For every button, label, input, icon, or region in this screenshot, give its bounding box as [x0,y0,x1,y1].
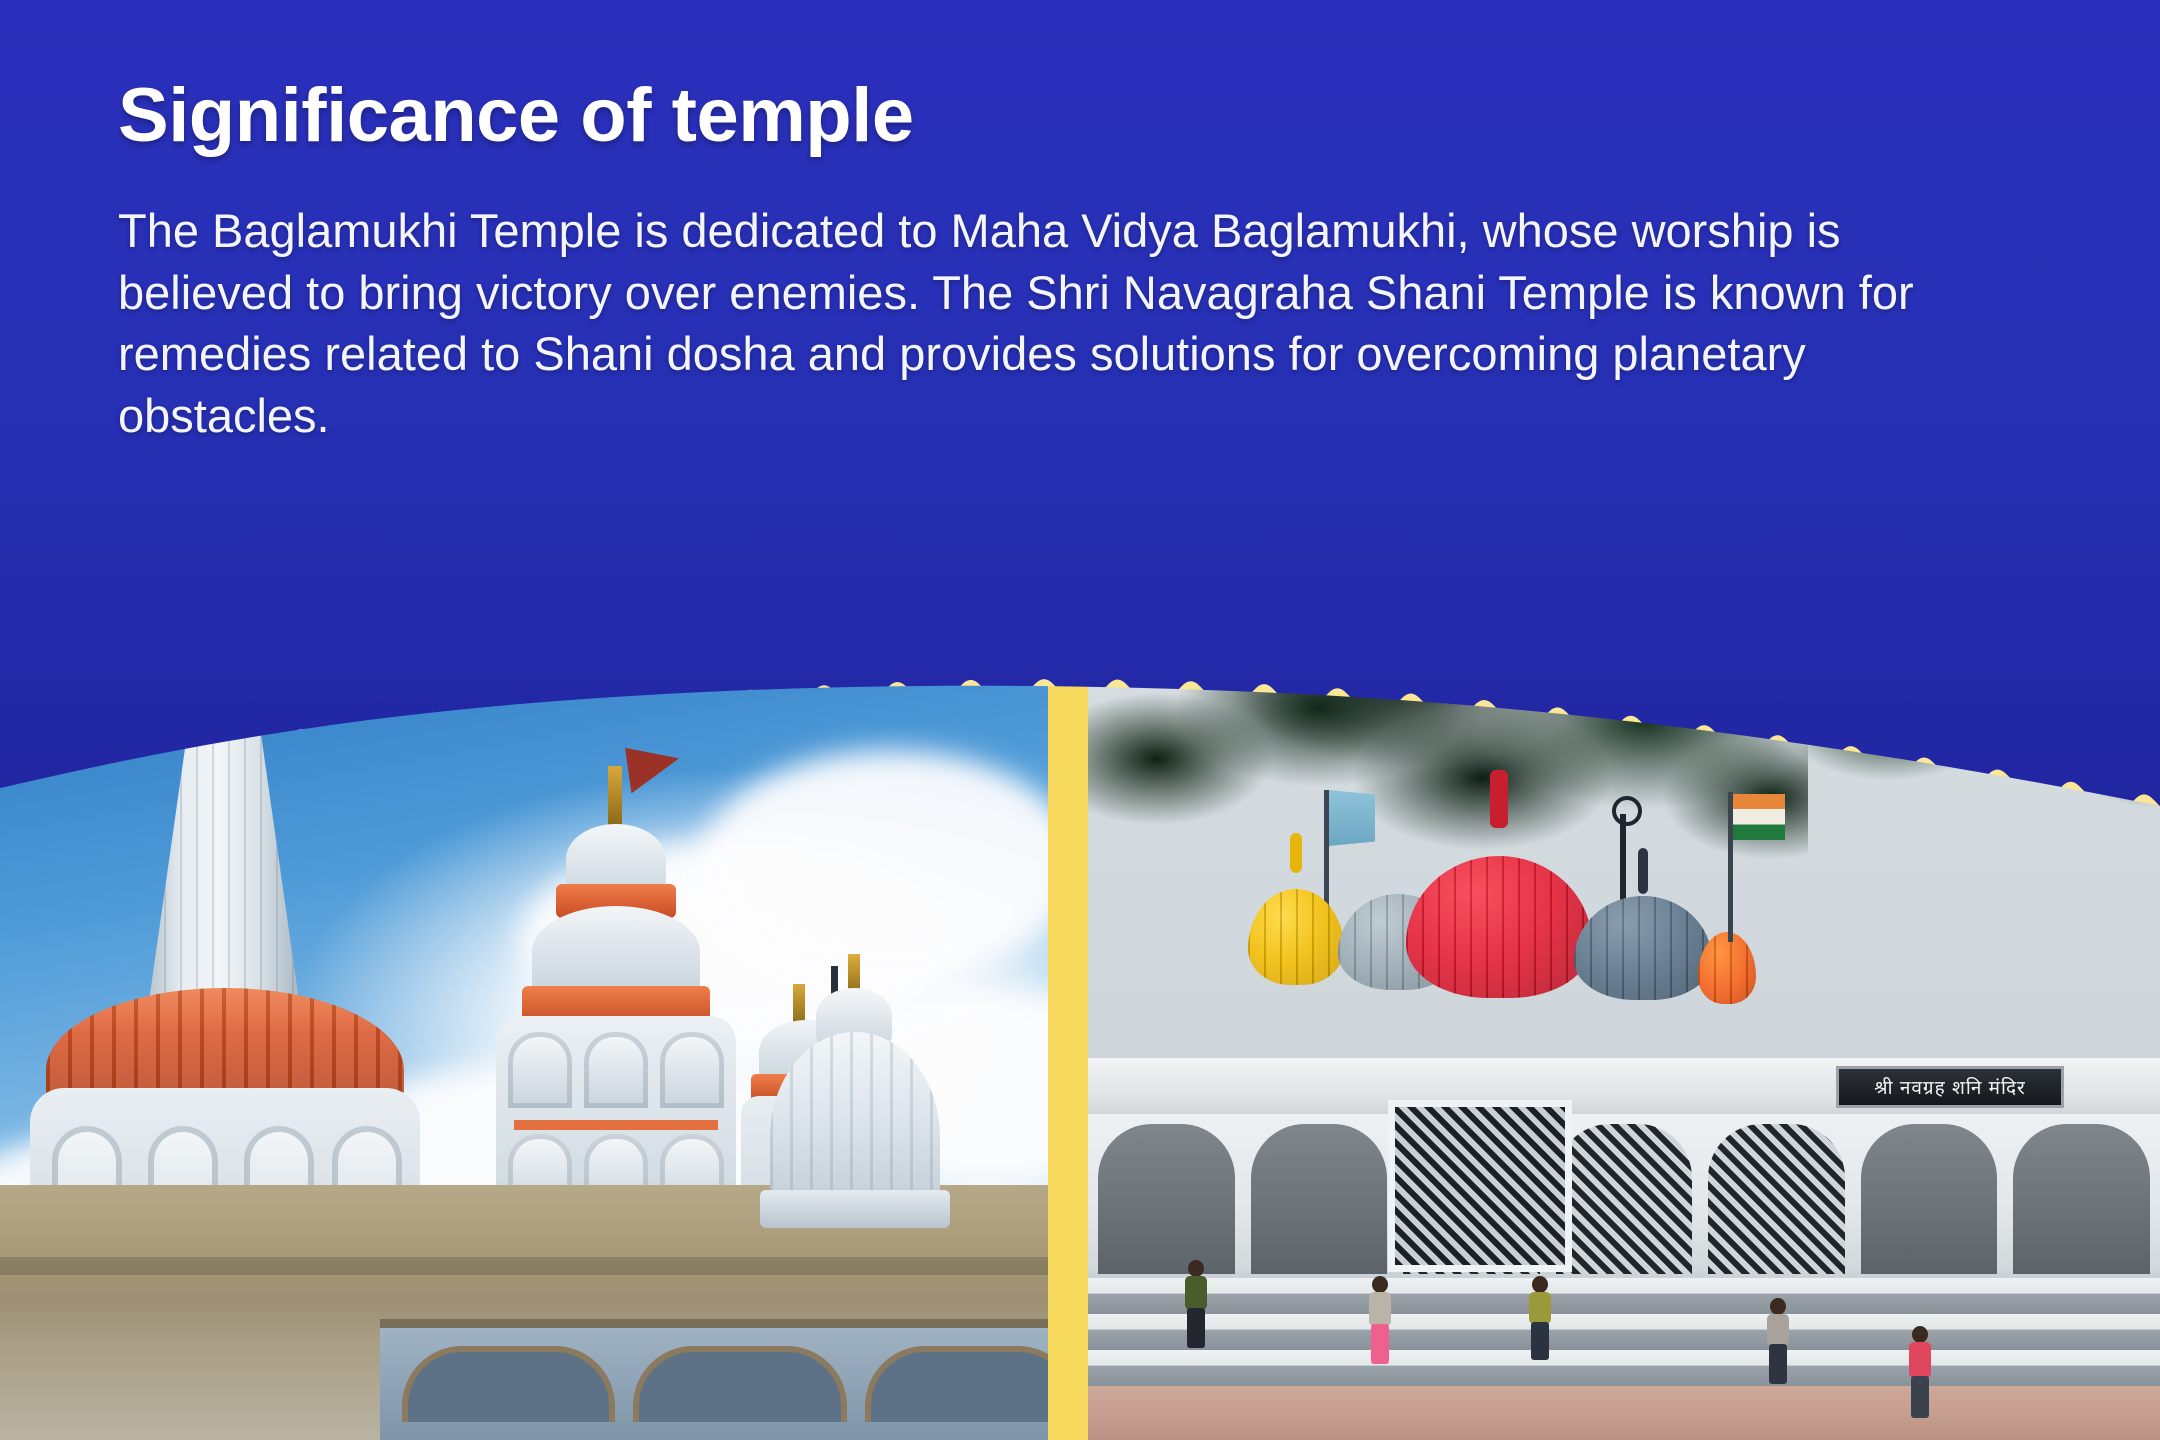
blue-flag [1329,790,1375,846]
body-paragraph: The Baglamukhi Temple is dedicated to Ma… [118,200,1998,446]
temple-signboard: श्री नवग्रह शनि मंदिर [1836,1066,2064,1108]
arch-window-row [1088,1124,2160,1274]
arch-window [2013,1124,2150,1274]
tricolour-flag [1733,794,1785,840]
text-block: Significance of temple The Baglamukhi Te… [118,78,2018,446]
dome-base [760,1190,950,1228]
temple-base-wall [380,1319,1048,1440]
temple-steps [1088,1264,2160,1440]
photo-pair: श्री नवग्रह शनि मंदिर [0,660,2160,1440]
temple-gate [1388,1100,1572,1272]
photo-right-temple: श्री नवग्रह शनि मंदिर [1088,660,2160,1440]
shikhara-spire [148,688,300,1008]
arch-window [1861,1124,1998,1274]
podium-dome [760,954,950,1244]
gold-finial-icon [608,766,622,826]
dome-navy [1574,888,1712,1000]
arch-grille-window [1556,1124,1693,1274]
lower-dome [532,906,700,998]
temple-wall [1088,1114,2160,1272]
temple-flag [625,741,683,794]
arch-window [1251,1124,1388,1274]
arch-grille-window [1708,1124,1845,1274]
tree-foliage [1760,660,2160,880]
courtyard-floor [1088,1386,2160,1440]
arch-window [1098,1124,1235,1274]
base-arch-row [380,1328,1048,1440]
dome-red [1406,822,1592,998]
dome-orange [1698,928,1756,1004]
dome-body [770,1032,940,1202]
photo-left-temple [0,660,1048,1440]
dome-yellow [1248,867,1344,985]
slide-root: Significance of temple The Baglamukhi Te… [0,0,2160,1440]
page-title: Significance of temple [118,78,2018,154]
yellow-divider [1048,660,1088,1440]
image-collage: श्री नवग्रह शनि मंदिर [0,660,2160,1440]
